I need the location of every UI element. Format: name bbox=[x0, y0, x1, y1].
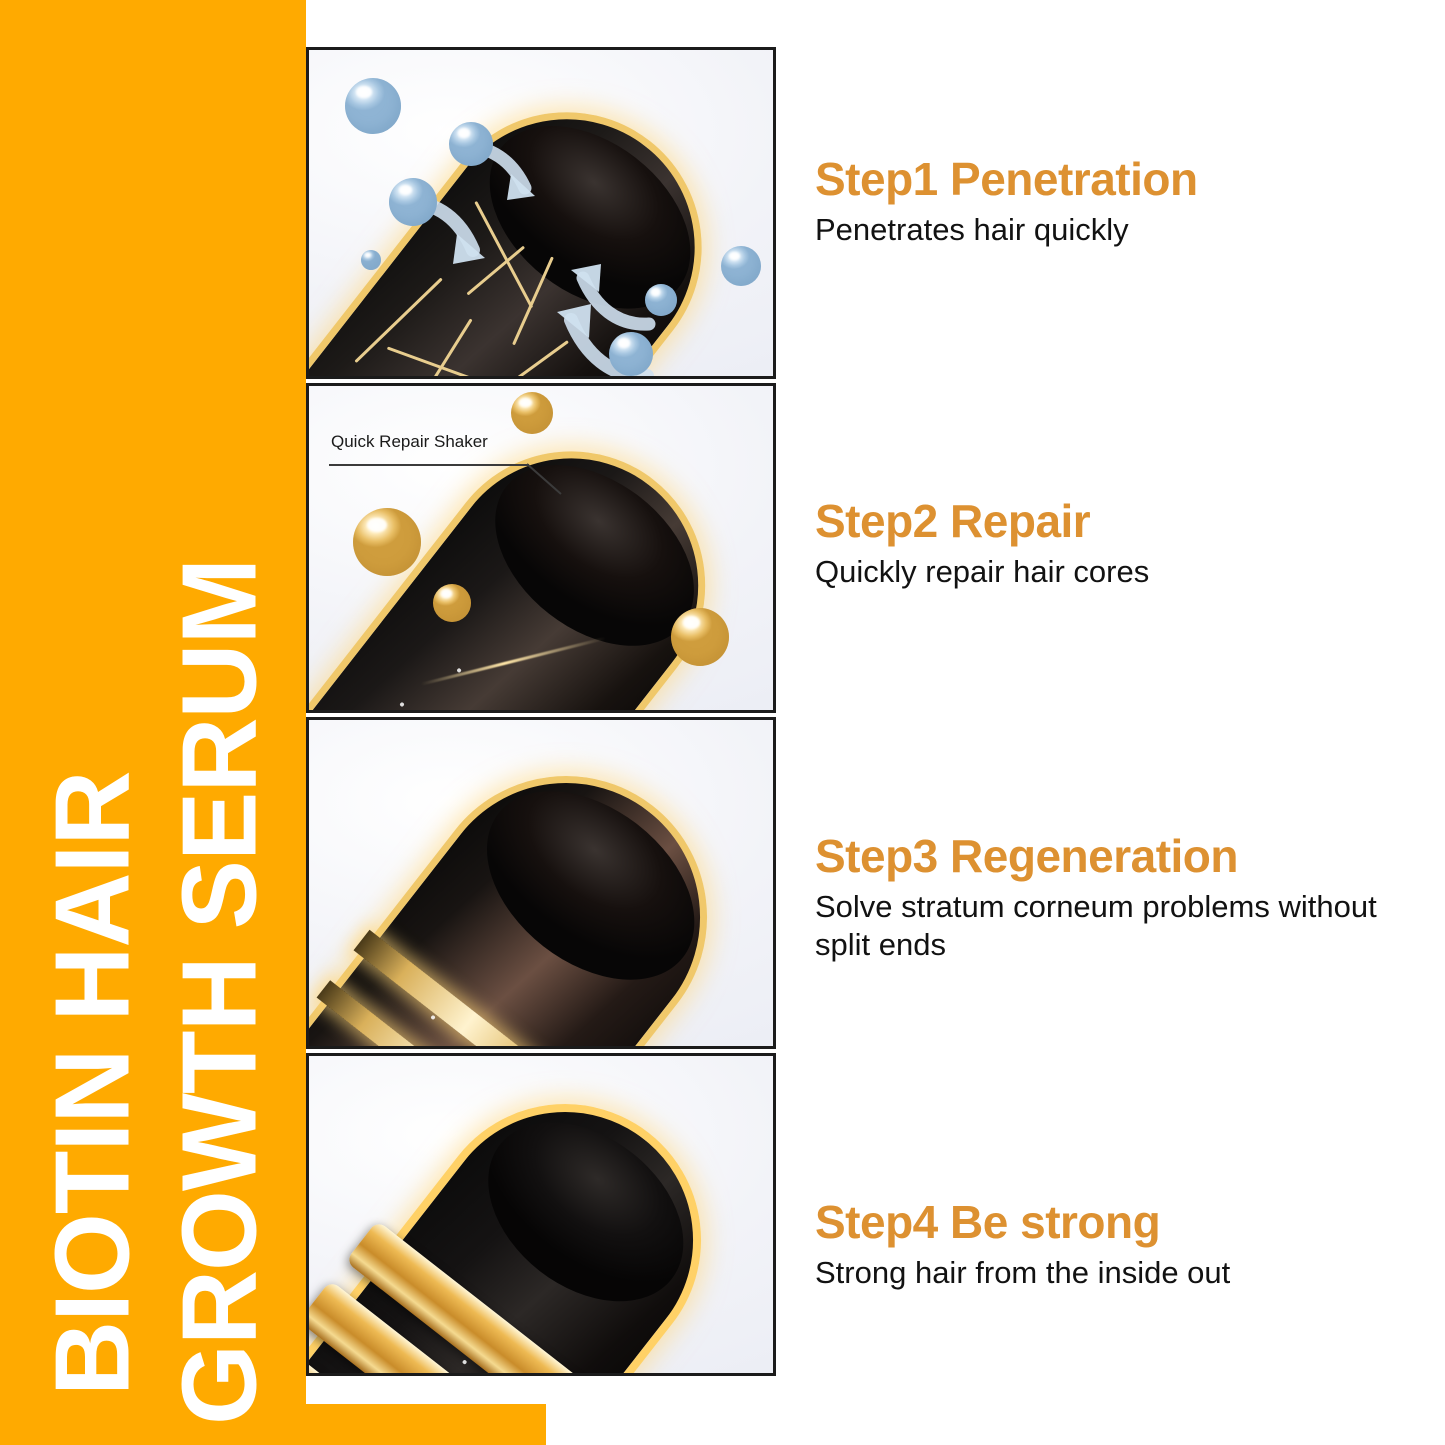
step-desc-1: Penetrates hair quickly bbox=[815, 211, 1415, 249]
step-item-1: Step1 Penetration Penetrates hair quickl… bbox=[815, 155, 1415, 249]
step-item-3: Step3 Regeneration Solve stratum corneum… bbox=[815, 832, 1415, 964]
step-title-2: Step2 Repair bbox=[815, 497, 1415, 545]
step-item-4: Step4 Be strong Strong hair from the ins… bbox=[815, 1198, 1415, 1292]
infographic-canvas: BIOTIN HAIR GROWTH SERUM bbox=[0, 0, 1445, 1445]
step-desc-2: Quickly repair hair cores bbox=[815, 553, 1415, 591]
step-desc-4: Strong hair from the inside out bbox=[815, 1254, 1415, 1292]
step-title-3: Step3 Regeneration bbox=[815, 832, 1415, 880]
step-desc-3: Solve stratum corneum problems without s… bbox=[815, 888, 1415, 964]
step-item-2: Step2 Repair Quickly repair hair cores bbox=[815, 497, 1415, 591]
step-title-4: Step4 Be strong bbox=[815, 1198, 1415, 1246]
step-list: Step1 Penetration Penetrates hair quickl… bbox=[0, 0, 1445, 1445]
step-title-1: Step1 Penetration bbox=[815, 155, 1415, 203]
